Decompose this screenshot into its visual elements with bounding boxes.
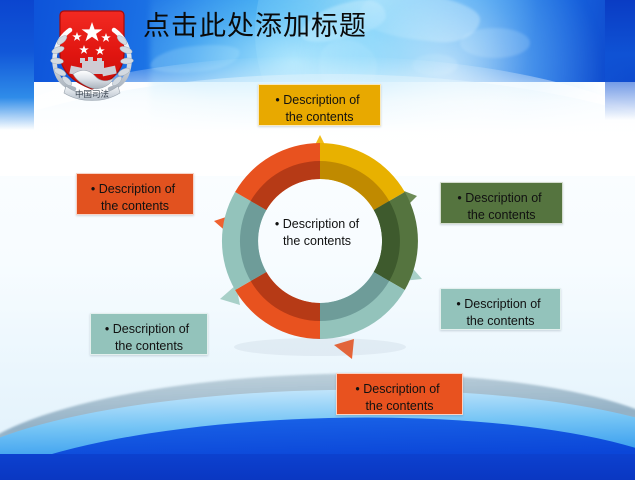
callout-left[interactable]: • Description of the contents	[76, 173, 194, 215]
right-blue-edge	[605, 0, 635, 120]
callout-line2: the contents	[337, 398, 462, 415]
callout-line1: • Description of	[441, 190, 562, 207]
page-title: 点击此处添加标题	[143, 11, 367, 43]
emblem-ribbon-text: 中国司法	[75, 89, 109, 100]
ring-center-line2: the contents	[246, 233, 388, 250]
callout-right-lower[interactable]: • Description of the contents	[440, 288, 561, 330]
callout-bottom[interactable]: • Description of the contents	[336, 373, 463, 415]
callout-line2: the contents	[77, 198, 193, 215]
callout-line2: the contents	[441, 313, 560, 330]
cycle-ring-diagram	[212, 133, 428, 365]
callout-top[interactable]: • Description of the contents	[258, 84, 381, 126]
ring-center-label: • Description of the contents	[246, 216, 388, 249]
callout-line1: • Description of	[441, 296, 560, 313]
callout-line2: the contents	[441, 207, 562, 224]
china-judicial-emblem: 中国司法	[40, 2, 144, 106]
callout-left-lower[interactable]: • Description of the contents	[90, 313, 208, 355]
bottom-wave-deep-blue	[0, 454, 635, 480]
callout-line1: • Description of	[77, 181, 193, 198]
callout-line1: • Description of	[91, 321, 207, 338]
callout-line1: • Description of	[337, 381, 462, 398]
slide-canvas: 中国司法 点击此处添加标题	[0, 0, 635, 480]
left-blue-edge	[0, 0, 34, 130]
callout-line2: the contents	[91, 338, 207, 355]
callout-right-upper[interactable]: • Description of the contents	[440, 182, 563, 224]
callout-line2: the contents	[259, 109, 380, 126]
ring-center-line1: • Description of	[246, 216, 388, 233]
callout-line1: • Description of	[259, 92, 380, 109]
